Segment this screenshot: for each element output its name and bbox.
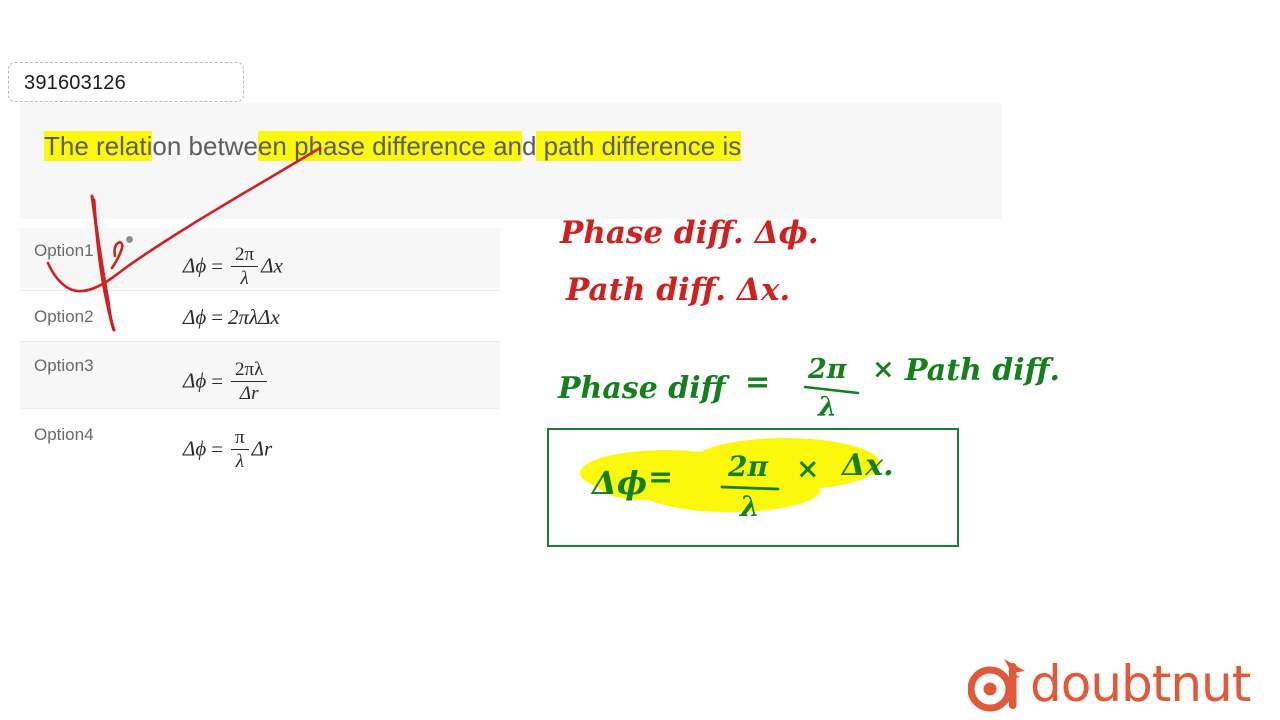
option-formula-4: Δϕ=πλΔr: [183, 428, 272, 474]
question-segment-4: d: [522, 131, 536, 161]
red-note-phase-diff: Phase diff. Δϕ.: [559, 215, 819, 251]
option-formula-3-numerator: 2πλ: [231, 359, 267, 381]
option-formula-2-inline: 2πλΔx: [228, 305, 280, 329]
option-label-4: Option4: [34, 425, 94, 445]
screenshot-root: 391603126 The relation between phase dif…: [0, 0, 1280, 720]
option-formula-3: Δϕ=2πλΔr: [183, 360, 270, 406]
green-relation-numerator: 2π: [807, 354, 848, 385]
option-formula-4-numerator: π: [231, 427, 249, 449]
option-label-3: Option3: [34, 356, 94, 376]
option-label-2: Option2: [34, 307, 94, 327]
question-id-text: 391603126: [24, 72, 126, 95]
option-formula-1-lhs: Δϕ: [183, 254, 206, 278]
question-segment-3: en phase difference an: [258, 131, 522, 161]
option-formula-1-tail: Δx: [261, 254, 283, 278]
option-formula-3-eq: =: [211, 369, 223, 393]
mouse-cursor-dot: [125, 235, 134, 244]
option-formula-3-lhs: Δϕ: [183, 369, 206, 393]
green-relation-denominator: λ: [817, 392, 837, 423]
option-formula-1: Δϕ=2πλΔx: [183, 245, 283, 291]
option-formula-1-denominator: λ: [231, 266, 258, 289]
question-segment-1: The relati: [44, 131, 152, 161]
question-segment-5: path difference is: [536, 131, 741, 161]
question-band: The relation between phase difference an…: [20, 103, 1002, 219]
option-formula-1-fraction: 2πλ: [231, 244, 258, 290]
green-relation-times: ×: [872, 354, 895, 385]
option-formula-4-denominator: λ: [231, 449, 249, 472]
option-label-1: Option1: [34, 241, 94, 261]
option-formula-4-tail: Δr: [252, 437, 273, 461]
option-formula-1-numerator: 2π: [231, 244, 258, 266]
option-formula-2-lhs: Δϕ: [183, 305, 206, 329]
option-formula-4-eq: =: [211, 437, 223, 461]
green-relation-right: Path diff.: [904, 353, 1060, 388]
question-segment-2: on betwe: [152, 131, 258, 161]
doubtnut-wordmark: doubtnut: [1030, 655, 1250, 713]
question-text: The relation between phase difference an…: [44, 128, 741, 164]
green-relation-equals: =: [745, 365, 770, 400]
doubtnut-d-rocket-mark: [968, 657, 1028, 713]
question-id-chip: 391603126: [8, 62, 244, 102]
option-formula-4-lhs: Δϕ: [183, 437, 206, 461]
doubtnut-logo: doubtnut: [968, 657, 1268, 713]
option-formula-4-fraction: πλ: [231, 427, 249, 473]
green-relation-left: Phase diff: [557, 371, 731, 406]
option-formula-1-eq: =: [211, 254, 223, 278]
option-formula-2-eq: =: [211, 305, 223, 329]
green-relation-fraction-bar: [805, 387, 858, 393]
option-formula-2: Δϕ=2πλΔx: [183, 305, 280, 330]
option-formula-3-fraction: 2πλΔr: [231, 359, 267, 405]
answer-box: [547, 428, 959, 547]
option-row-1-tail[interactable]: [340, 228, 500, 288]
option-formula-3-denominator: Δr: [231, 381, 267, 404]
red-note-path-diff: Path diff. Δx.: [565, 272, 790, 308]
